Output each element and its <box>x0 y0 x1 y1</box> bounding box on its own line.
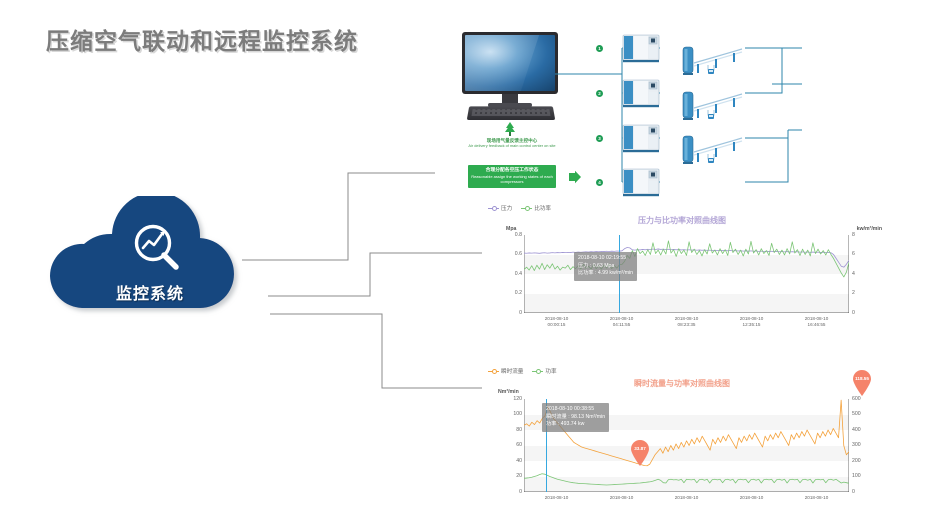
value-pin-marker[interactable]: 118.55 <box>852 370 872 396</box>
x-tick-time: 12:35:15 <box>730 322 774 328</box>
legend-item[interactable]: 比功率 <box>521 204 551 212</box>
legend-label: 功率 <box>545 367 556 375</box>
node-dot-4: 4 <box>596 179 603 186</box>
chart2-title: 瞬时流量与功率对照曲线图 <box>482 378 882 389</box>
y2-axis-tick: 300 <box>852 442 861 448</box>
x-tick-date: 2018-08-10 <box>600 495 644 501</box>
y2-axis-tick: 400 <box>852 427 861 433</box>
desktop-computer-icon <box>462 32 558 120</box>
x-tick-time: 04:11:55 <box>600 322 644 328</box>
x-axis-tick: 2018-08-1004:11:55 <box>600 316 644 328</box>
legend-label: 比功率 <box>534 204 551 212</box>
legend-label: 压力 <box>501 204 512 212</box>
slide-root: 压缩空气联动和远程监控系统 监控系统 <box>0 0 945 529</box>
x-tick-time: 00:00:15 <box>535 322 579 328</box>
system-topology-diagram: 现场用气量反馈主控中心 Air delivery feedback of mai… <box>432 18 945 200</box>
air-tank-icon <box>682 89 748 123</box>
y-axis-tick: 60 <box>498 442 522 448</box>
series-lines <box>524 235 849 313</box>
flow-power-chart[interactable]: 瞬时流量功率 瞬时流量与功率对照曲线图 Nm³/min 120100806040… <box>482 366 882 518</box>
air-tank-icon <box>682 44 748 78</box>
series-line <box>524 474 849 485</box>
legend-marker-icon <box>488 208 499 209</box>
tooltip-line-0: 2018-08-10 02:19:55 <box>578 255 633 263</box>
chart1-y2-axis-unit: kw/m³/min <box>857 226 882 232</box>
chart-magnifier-icon <box>130 222 184 274</box>
page-title: 压缩空气联动和远程监控系统 <box>46 22 358 56</box>
y2-axis-tick: 4 <box>852 271 855 277</box>
chart2-legend[interactable]: 瞬时流量功率 <box>488 367 557 375</box>
x-axis-tick: 2018-08-10 <box>730 495 774 501</box>
y2-axis-tick: 600 <box>852 396 861 402</box>
legend-marker-icon <box>521 208 532 209</box>
y2-axis-tick: 500 <box>852 411 861 417</box>
value-pin-marker[interactable]: 33.87 <box>630 440 650 466</box>
y-axis-tick: 0.6 <box>498 251 522 257</box>
y2-axis-tick: 200 <box>852 458 861 464</box>
tree-icon <box>504 122 516 136</box>
chart-tooltip: 2018-08-10 02:19:55压力 : 0.63 Mpa比功率 : 4.… <box>574 252 637 281</box>
y-axis-tick: 100 <box>498 411 522 417</box>
x-axis-tick: 2018-08-1016:46:55 <box>795 316 839 328</box>
y2-axis-tick: 8 <box>852 232 855 238</box>
legend-item[interactable]: 压力 <box>488 204 512 212</box>
tooltip-line-0: 2018-08-10 00:38:55 <box>546 406 605 414</box>
legend-marker-icon <box>488 371 499 372</box>
legend-marker-icon <box>532 371 543 372</box>
series-line <box>524 247 849 267</box>
y-axis-tick: 120 <box>498 396 522 402</box>
node-dot-1: 1 <box>596 45 603 52</box>
series-line <box>524 241 849 277</box>
pin-label: 118.55 <box>852 376 872 381</box>
air-compressor-icon <box>622 33 662 63</box>
x-axis-tick: 2018-08-10 <box>665 495 709 501</box>
x-axis-tick: 2018-08-1008:23:35 <box>665 316 709 328</box>
air-compressor-icon <box>622 78 662 108</box>
legend-item[interactable]: 功率 <box>532 367 556 375</box>
monitor-screen <box>462 32 558 94</box>
tooltip-line-1: 瞬时流量 : 98.13 Nm³/min <box>546 414 605 422</box>
cloud-label: 监控系统 <box>34 280 266 304</box>
x-axis-tick: 2018-08-1012:35:15 <box>730 316 774 328</box>
chart1-title: 压力与比功率对照曲线图 <box>482 215 882 226</box>
x-tick-date: 2018-08-10 <box>665 495 709 501</box>
y-axis-tick: 0.4 <box>498 271 522 277</box>
node-dot-3: 3 <box>596 135 603 142</box>
air-compressor-icon <box>622 167 662 197</box>
x-axis-tick: 2018-08-10 <box>535 495 579 501</box>
y-axis-tick: 0 <box>498 310 522 316</box>
chart1-legend[interactable]: 压力比功率 <box>488 204 551 212</box>
pin-label: 33.87 <box>630 446 650 451</box>
y2-axis-tick: 2 <box>852 290 855 296</box>
y-axis-tick: 0 <box>498 489 522 495</box>
x-tick-date: 2018-08-10 <box>795 495 839 501</box>
y2-axis-tick: 6 <box>852 251 855 257</box>
y-axis-tick: 40 <box>498 458 522 464</box>
y-axis-tick: 0.2 <box>498 290 522 296</box>
y-axis-tick: 0.8 <box>498 232 522 238</box>
monitoring-cloud[interactable]: 监控系统 <box>34 196 284 332</box>
x-tick-time: 08:23:35 <box>665 322 709 328</box>
legend-item[interactable]: 瞬时流量 <box>488 367 523 375</box>
legend-label: 瞬时流量 <box>501 367 523 375</box>
keyboard-icon <box>467 106 555 120</box>
chart-tooltip: 2018-08-10 00:38:55瞬时流量 : 98.13 Nm³/min功… <box>542 403 609 432</box>
caption-compressor-states: 合理分配各空压工作状态 Reasonable assign the workin… <box>468 165 556 188</box>
chart2-y-axis-unit: Nm³/min <box>498 389 519 395</box>
pressure-power-chart[interactable]: 压力比功率 压力与比功率对照曲线图 Mpa kw/m³/min 0.80.60.… <box>482 202 882 334</box>
x-tick-date: 2018-08-10 <box>535 495 579 501</box>
tooltip-line-2: 比功率 : 4.99 kw/m³/min <box>578 270 633 278</box>
y-axis-tick: 20 <box>498 473 522 479</box>
y2-axis-tick: 0 <box>852 310 855 316</box>
x-axis-tick: 2018-08-1000:00:15 <box>535 316 579 328</box>
x-tick-time: 16:46:55 <box>795 322 839 328</box>
y-axis-tick: 80 <box>498 427 522 433</box>
x-tick-date: 2018-08-10 <box>730 495 774 501</box>
tooltip-line-1: 压力 : 0.63 Mpa <box>578 263 633 271</box>
caption-control-center: 现场用气量反馈主控中心 Air delivery feedback of mai… <box>466 138 558 149</box>
air-compressor-icon <box>622 123 662 153</box>
y2-axis-tick: 0 <box>852 489 855 495</box>
air-tank-icon <box>682 133 748 167</box>
y2-axis-tick: 100 <box>852 473 861 479</box>
node-dot-2: 2 <box>596 90 603 97</box>
x-axis-tick: 2018-08-10 <box>795 495 839 501</box>
chart1-plot-area[interactable] <box>524 235 849 313</box>
tooltip-line-2: 功率 : 493.74 kw <box>546 421 605 429</box>
x-axis-tick: 2018-08-10 <box>600 495 644 501</box>
